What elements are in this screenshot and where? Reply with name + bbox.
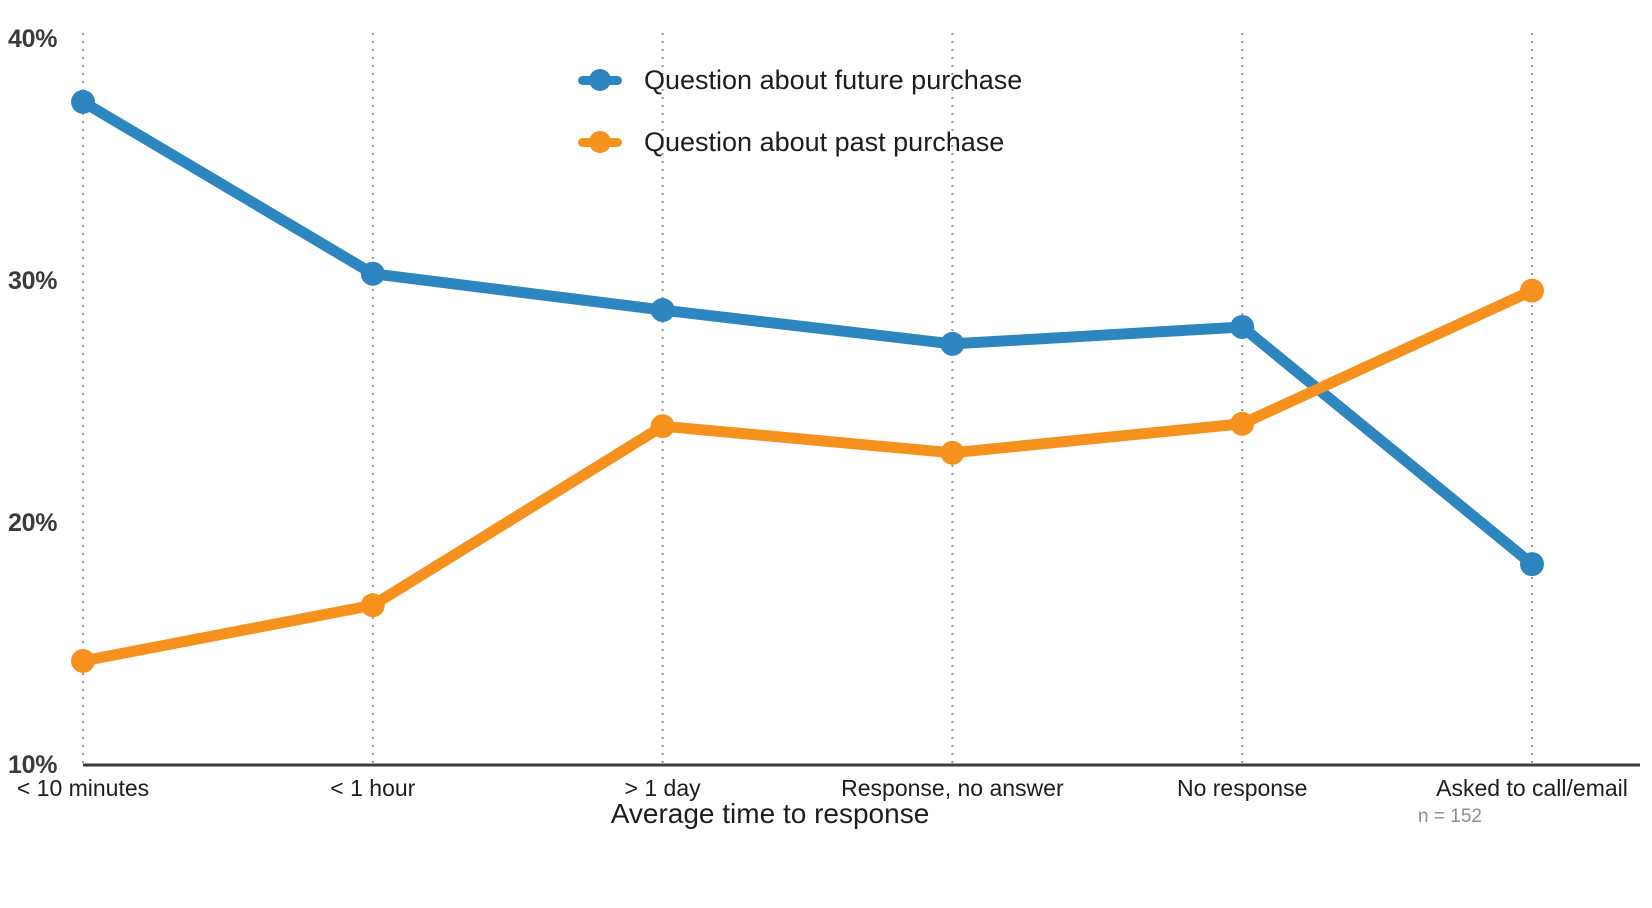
series-lines [83,102,1532,661]
data-point[interactable] [361,262,385,286]
x-axis-tick-label: Asked to call/email [1436,775,1628,802]
x-axis-title: Average time to response [611,798,930,830]
legend-marker-icon [578,69,622,91]
data-point[interactable] [1230,412,1254,436]
series-line-1 [83,291,1532,661]
x-axis-tick-label: < 1 hour [330,775,415,802]
legend-marker-icon [578,131,622,153]
data-point[interactable] [651,298,675,322]
data-point[interactable] [361,593,385,617]
x-axis-tick-label: No response [1177,775,1307,802]
series-line-0 [83,102,1532,564]
data-point[interactable] [1230,315,1254,339]
y-axis-tick-label: 20% [8,509,57,538]
legend-item[interactable]: Question about future purchase [578,60,1022,100]
data-point[interactable] [71,649,95,673]
legend-item-label: Question about past purchase [644,127,1004,158]
data-point[interactable] [940,441,964,465]
y-axis-tick-label: 30% [8,267,57,296]
y-axis-tick-label: 40% [8,25,57,54]
chart-legend: Question about future purchase Question … [578,60,1022,162]
legend-item-label: Question about future purchase [644,65,1022,96]
legend-item[interactable]: Question about past purchase [578,122,1022,162]
data-point[interactable] [651,414,675,438]
data-point[interactable] [1520,279,1544,303]
line-chart: 40%30%20%10% < 10 minutes< 1 hour> 1 day… [0,0,1652,908]
data-point[interactable] [71,90,95,114]
data-point[interactable] [1520,552,1544,576]
x-axis-tick-label: < 10 minutes [17,775,149,802]
data-point[interactable] [940,332,964,356]
sample-size-note: n = 152 [1418,806,1482,828]
